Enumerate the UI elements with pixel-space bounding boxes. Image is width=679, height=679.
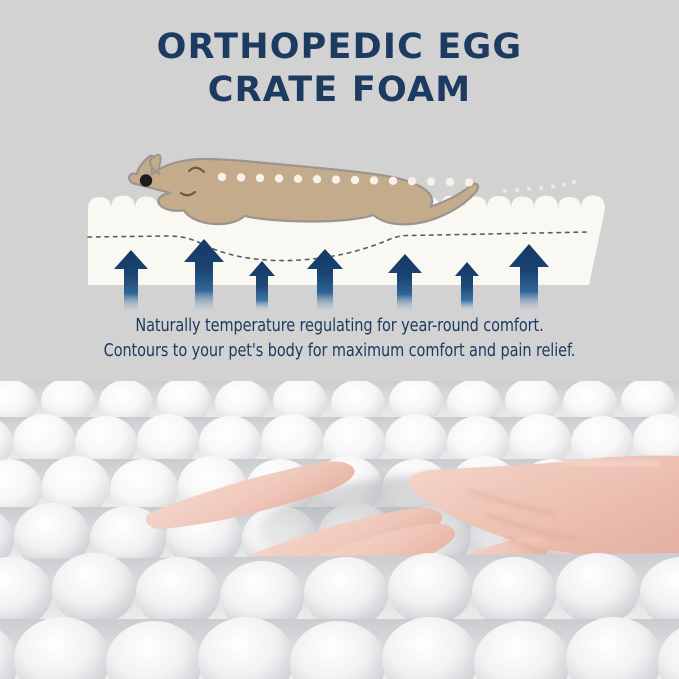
page-title: ORTHOPEDIC EGG CRATE FOAM <box>0 26 679 112</box>
tagline-group: Naturally temperature regulating for yea… <box>0 314 679 364</box>
product-feature-graphic: ORTHOPEDIC EGG CRATE FOAM <box>0 0 679 679</box>
dog-on-foam-illustration <box>0 120 679 310</box>
foam-texture-photo <box>0 381 679 679</box>
dog-tail-dots <box>503 180 576 193</box>
tagline-2: Contours to your pet's body for maximum … <box>27 339 652 364</box>
dog-nose-icon <box>140 174 152 186</box>
top-illustration-panel: ORTHOPEDIC EGG CRATE FOAM <box>0 0 679 381</box>
tagline-1: Naturally temperature regulating for yea… <box>27 314 652 339</box>
page-title-line-1: ORTHOPEDIC EGG <box>0 26 679 69</box>
page-title-line-2: CRATE FOAM <box>0 69 679 112</box>
foam-photo-svg <box>0 381 679 679</box>
